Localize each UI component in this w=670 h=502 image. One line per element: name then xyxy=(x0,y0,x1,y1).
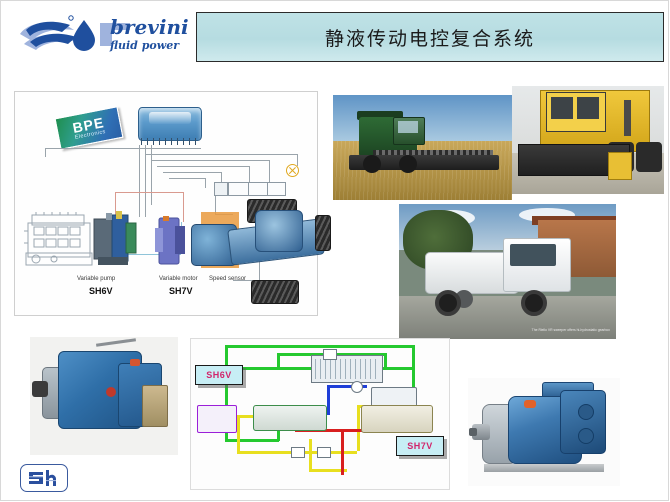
circuit-line-suction xyxy=(327,385,330,415)
hydraulic-pump-photo xyxy=(30,337,178,455)
callout-sh7v: SH7V xyxy=(396,436,444,456)
hydrostatic-transmission-schematic: BPE Electronics xyxy=(14,91,318,316)
dozer-window xyxy=(577,97,599,119)
harvester-wheel xyxy=(363,155,381,173)
filter-icon xyxy=(291,447,305,458)
circuit-line-return xyxy=(357,405,360,451)
filter-icon xyxy=(323,349,337,360)
dozer-exhaust xyxy=(624,100,631,136)
wire xyxy=(45,148,46,157)
circuit-line-return xyxy=(237,415,240,451)
label-variable-pump: Variable pump xyxy=(77,276,115,282)
bulldozer-photo xyxy=(512,86,664,194)
harvester-cab xyxy=(393,117,425,145)
street-sweeper-truck-photo: The Riello VR sweeper offers hi-hydrosta… xyxy=(399,204,616,339)
combine-harvester-photo xyxy=(333,95,512,200)
variable-pump-symbol xyxy=(253,405,327,431)
wire xyxy=(145,154,297,155)
hydraulic-circuit-diagram: SH6V SH7V xyxy=(190,338,450,490)
windshield xyxy=(510,244,556,266)
differential-icon xyxy=(255,210,303,252)
wire xyxy=(205,178,206,188)
prime-mover-symbol xyxy=(197,405,237,433)
wire-pressure xyxy=(115,192,183,193)
circuit-line-pressure xyxy=(225,439,279,442)
callout-sh6v: SH6V xyxy=(195,365,243,385)
variable-motor-symbol xyxy=(361,405,433,433)
check-valve-icon xyxy=(351,381,363,393)
circuit-line-pressure xyxy=(231,367,313,370)
pump-plug xyxy=(130,359,140,366)
label-speed-sensor: Speed sensor xyxy=(209,276,246,282)
wire xyxy=(297,154,298,166)
sh-badge-logo xyxy=(20,464,68,492)
motor-port xyxy=(578,428,594,444)
wire xyxy=(151,160,269,161)
slide-title-bar: 静液传动电控复合系统 xyxy=(196,12,664,62)
wire xyxy=(145,145,146,217)
svg-text:brevini: brevini xyxy=(110,15,189,39)
dozer-window xyxy=(551,97,573,119)
label-variable-motor: Variable motor xyxy=(159,276,198,282)
wire xyxy=(139,145,140,217)
tire-icon xyxy=(251,280,299,304)
svg-text:fluid power: fluid power xyxy=(109,39,180,52)
page-title: 静液传动电控复合系统 xyxy=(325,24,535,51)
pump-control-valve xyxy=(142,385,168,427)
motor-output-shaft xyxy=(472,424,490,440)
circuit-line-hp xyxy=(341,429,344,475)
tire-icon xyxy=(315,215,331,251)
hydraulic-motor-photo xyxy=(468,378,620,486)
variable-pump-icon xyxy=(92,211,139,267)
harvester-wheel xyxy=(399,155,417,173)
wire xyxy=(169,178,205,179)
pump-nameplate xyxy=(106,387,116,397)
circuit-line-pressure xyxy=(384,353,387,367)
sh-logo-glyph xyxy=(27,470,61,486)
wire xyxy=(45,148,201,149)
directional-valve-icon xyxy=(228,182,286,196)
label-sh6v: SH6V xyxy=(89,286,113,296)
pump-drive-shaft xyxy=(32,381,48,397)
truck-cab xyxy=(503,238,571,292)
label-sh7v: SH7V xyxy=(169,286,193,296)
circuit-line-pressure xyxy=(379,367,415,370)
diesel-engine-icon xyxy=(24,209,98,272)
oil-cooler-icon xyxy=(311,355,383,383)
circuit-line-pressure xyxy=(225,345,415,348)
slide-root: brevini fluid power 静液传动电控复合系统 BPE Elect… xyxy=(0,0,670,502)
truck-wheel xyxy=(521,290,547,316)
circuit-line-return xyxy=(309,439,312,469)
ecu-pins xyxy=(139,138,199,145)
motor-plug xyxy=(524,400,536,408)
circuit-line-pressure xyxy=(412,345,415,369)
dozer-wheel xyxy=(636,142,662,172)
ecu-icon xyxy=(138,107,202,141)
motor-port xyxy=(578,404,594,420)
filter-icon xyxy=(317,447,331,458)
warning-lamp-icon xyxy=(286,164,299,177)
dozer-step xyxy=(608,152,632,180)
brevini-logo: brevini fluid power xyxy=(14,8,190,60)
dozer-cab xyxy=(546,92,606,132)
truck-wheel xyxy=(435,290,461,316)
photo-base-shadow xyxy=(484,464,604,472)
solenoid-icon xyxy=(214,182,228,196)
variable-motor-icon xyxy=(153,216,187,268)
bpe-electronics-badge: BPE Electronics xyxy=(55,106,124,150)
brevini-water-drop-logo: brevini fluid power xyxy=(14,8,190,60)
motor-port-plate xyxy=(560,390,606,454)
pump-control-lever xyxy=(96,338,136,347)
wire xyxy=(157,166,249,167)
wire xyxy=(151,145,152,205)
wire xyxy=(163,172,221,173)
photo-caption: The Riello VR sweeper offers hi-hydrosta… xyxy=(532,328,610,333)
circuit-line-pressure xyxy=(277,353,280,367)
